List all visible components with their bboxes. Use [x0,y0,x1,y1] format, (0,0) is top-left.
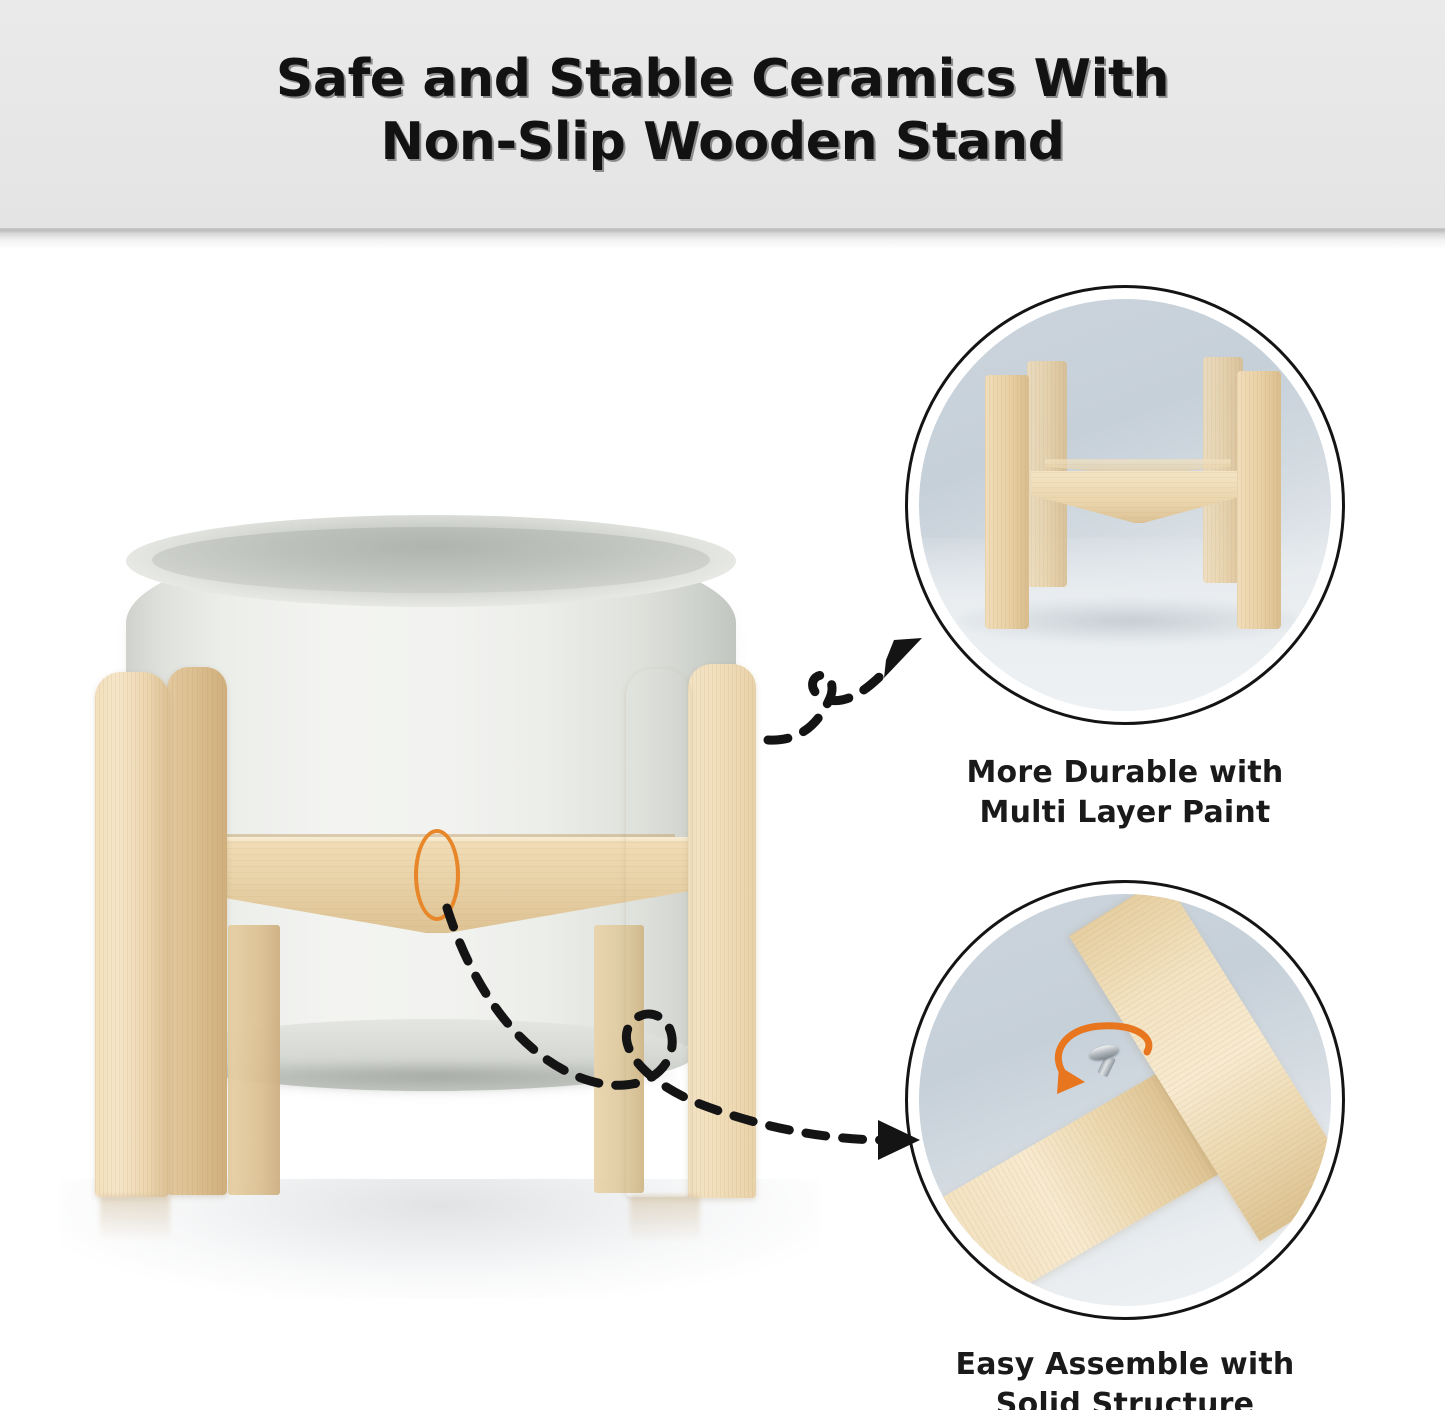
mini-leg-front-right [1237,371,1281,629]
inset-easy-assemble-photo [919,894,1331,1306]
hero-product-image [0,249,860,1249]
bowl-rim-inner [152,527,710,593]
joint-highlight-ellipse [414,829,460,921]
inset-more-durable [905,285,1345,725]
inset-more-durable-photo [919,299,1331,711]
caption-more-durable: More Durable with Multi Layer Paint [905,753,1345,833]
rotation-arrow-icon [1037,1004,1177,1114]
stand-leg-front-right [626,669,690,1197]
leg-reflection-left [100,1195,170,1241]
stand-leg-front-left [95,672,169,1197]
product-stage: More Durable with Multi Layer Paint Easy… [0,249,1445,1410]
stand-leg-front-right-side [688,664,756,1198]
stand-leg-front-left-side [167,667,227,1195]
page-title: Safe and Stable Ceramics With Non-Slip W… [0,48,1445,174]
stand-inner-leg-left [228,925,280,1195]
caption-easy-assemble: Easy Assemble with Solid Structure [905,1345,1345,1410]
leg-reflection-right [630,1195,700,1241]
infographic-page: Safe and Stable Ceramics With Non-Slip W… [0,0,1445,1410]
header-drop-shadow [0,233,1445,249]
mini-leg-front-left [985,375,1029,629]
inset-easy-assemble [905,880,1345,1320]
